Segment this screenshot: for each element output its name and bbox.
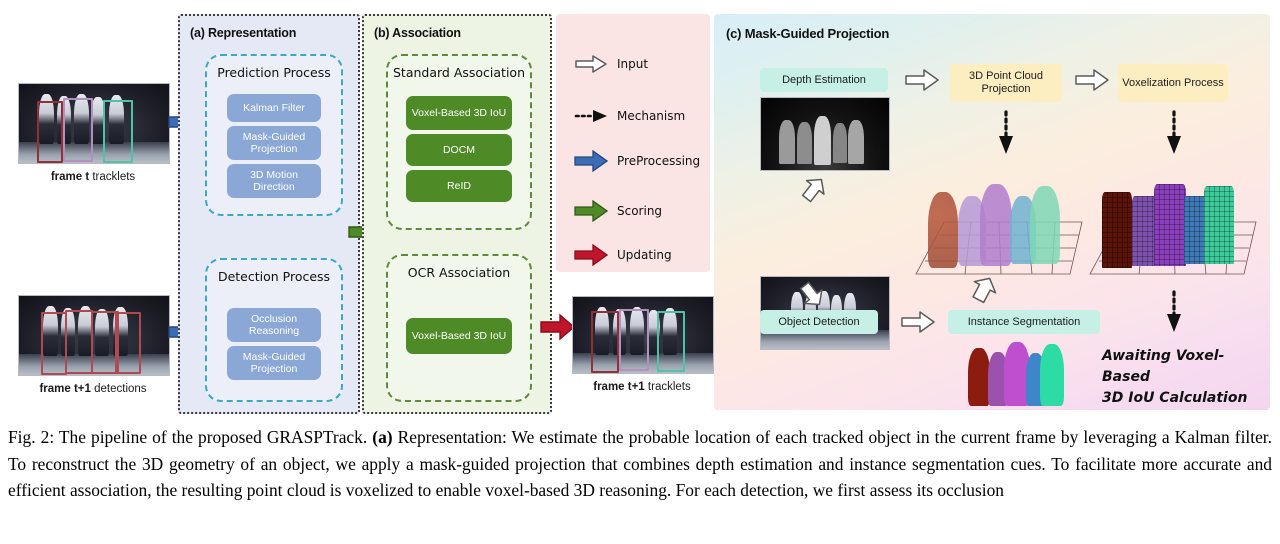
- frame-t-label: frame t tracklets: [18, 171, 168, 183]
- pointcloud-person-3: [980, 184, 1012, 266]
- instance-segmentation-silhouettes: [966, 340, 1086, 406]
- awaiting-result-line2: 3D IoU Calculation: [1102, 388, 1270, 409]
- frame-t-label-bold: frame t: [51, 171, 89, 183]
- pointcloud-person-5: [1030, 186, 1060, 264]
- awaiting-result-line1: Awaiting Voxel-Based: [1102, 346, 1270, 388]
- pill-voxel-based-3d-iou-ocr[interactable]: Voxel-Based 3D IoU: [406, 318, 512, 354]
- input-arrow-seg-to-pointcloud-icon: [970, 272, 998, 306]
- legend-label-scoring: Scoring: [617, 204, 662, 218]
- frame-t-label-rest: tracklets: [89, 171, 135, 183]
- voxel-person-3: [1154, 184, 1186, 266]
- pill-mask-guided-projection[interactable]: Mask-Guided Projection: [227, 126, 321, 160]
- legend-item-preprocessing: PreProcessing: [574, 150, 700, 172]
- standard-association-group: Standard Association Voxel-Based 3D IoU …: [386, 54, 532, 230]
- input-arrow-to-voxelization-icon: [1074, 68, 1110, 92]
- ocr-association-group: OCR Association Voxel-Based 3D IoU: [386, 254, 532, 402]
- pill-voxel-based-3d-iou[interactable]: Voxel-Based 3D IoU: [406, 96, 512, 130]
- frame-t-input-group: frame t tracklets: [18, 83, 168, 183]
- panel-b-association: (b) Association Standard Association Vox…: [362, 14, 552, 414]
- legend-item-scoring: Scoring: [574, 200, 662, 222]
- mechanism-arrow-pointcloud-icon: [996, 110, 1016, 156]
- legend-item-updating: Updating: [574, 244, 672, 266]
- bbox-purple: [63, 98, 93, 162]
- input-arrow-to-segmentation-icon: [900, 310, 936, 334]
- legend-label-updating: Updating: [617, 248, 672, 262]
- hollow-arrow-icon: [574, 54, 608, 74]
- bbox-teal: [103, 100, 133, 163]
- legend-label-preprocessing: PreProcessing: [617, 154, 700, 168]
- legend-item-mechanism: Mechanism: [574, 106, 685, 126]
- green-arrow-icon: [574, 200, 608, 222]
- pill-kalman-filter[interactable]: Kalman Filter: [227, 94, 321, 122]
- prediction-process-title: Prediction Process: [207, 65, 341, 80]
- caption-bold-a: (a): [372, 427, 392, 447]
- frame-t-image: [18, 83, 170, 164]
- blue-arrow-icon: [574, 150, 608, 172]
- pill-reid[interactable]: ReID: [406, 170, 512, 202]
- frame-t1-label-bold: frame t+1: [39, 383, 90, 395]
- input-arrow-to-pointcloud-icon: [904, 68, 940, 92]
- voxel-person-1: [1102, 192, 1132, 268]
- frame-t1-label: frame t+1 detections: [18, 383, 168, 395]
- tag-instance-segmentation[interactable]: Instance Segmentation: [948, 310, 1100, 334]
- panel-b-title: (b) Association: [374, 26, 461, 40]
- awaiting-result-note: Awaiting Voxel-Based 3D IoU Calculation: [1102, 346, 1270, 409]
- panel-a-representation: (a) Representation Prediction Process Ka…: [178, 14, 360, 414]
- dotted-arrow-icon: [574, 106, 608, 126]
- point-cloud-scene: [912, 160, 1102, 282]
- red-arrow-icon: [574, 244, 608, 266]
- pill-occlusion-reasoning[interactable]: Occlusion Reasoning: [227, 308, 321, 342]
- figure-canvas: frame t tracklets frame t+1 detections (…: [0, 0, 1280, 420]
- tag-depth-estimation[interactable]: Depth Estimation: [760, 68, 888, 92]
- frame-t1-input-group: frame t+1 detections: [18, 295, 168, 395]
- tag-voxelization-process[interactable]: Voxelization Process: [1118, 64, 1228, 102]
- detection-process-group: Detection Process Occlusion Reasoning Ma…: [205, 258, 343, 402]
- panel-c-title: (c) Mask-Guided Projection: [726, 26, 889, 41]
- mechanism-arrow-result-icon: [1164, 290, 1184, 334]
- output-frame-group: frame t+1 tracklets: [572, 296, 712, 393]
- pill-3d-motion-direction[interactable]: 3D Motion Direction: [227, 164, 321, 198]
- depth-estimation-image: [760, 97, 890, 171]
- frame-t1-image: [18, 295, 170, 376]
- tag-object-detection[interactable]: Object Detection: [760, 310, 878, 334]
- legend-label-mechanism: Mechanism: [617, 109, 685, 123]
- mechanism-arrow-voxelization-icon: [1164, 110, 1184, 156]
- voxelization-scene: [1086, 160, 1270, 282]
- figure-caption: Fig. 2: The pipeline of the proposed GRA…: [8, 424, 1272, 504]
- bbox-red: [37, 101, 63, 163]
- tag-3d-point-cloud-projection[interactable]: 3D Point Cloud Projection: [950, 64, 1062, 102]
- output-frame-image: [572, 296, 714, 374]
- output-frame-label: frame t+1 tracklets: [572, 381, 712, 393]
- input-arrow-to-depth-icon: [800, 174, 828, 204]
- legend-item-input: Input: [574, 54, 648, 74]
- input-arrow-to-detection-icon: [798, 280, 826, 310]
- output-frame-label-rest: tracklets: [645, 381, 691, 393]
- standard-association-title: Standard Association: [388, 65, 530, 80]
- output-frame-label-bold: frame t+1: [593, 381, 644, 393]
- legend-panel: Input Mechanism PreProcessing Scoring: [556, 14, 710, 272]
- panel-a-title: (a) Representation: [190, 26, 296, 40]
- legend-label-input: Input: [617, 57, 648, 71]
- frame-t1-label-rest: detections: [91, 383, 147, 395]
- pill-docm[interactable]: DOCM: [406, 134, 512, 166]
- panel-c-mask-guided-projection: (c) Mask-Guided Projection Depth Estimat…: [714, 14, 1270, 410]
- ocr-association-title: OCR Association: [388, 265, 530, 280]
- detection-process-title: Detection Process: [207, 269, 341, 284]
- pointcloud-person-1: [928, 192, 958, 268]
- voxel-person-5: [1204, 186, 1234, 264]
- prediction-process-group: Prediction Process Kalman Filter Mask-Gu…: [205, 54, 343, 216]
- pill-mask-guided-projection-2[interactable]: Mask-Guided Projection: [227, 346, 321, 380]
- updating-arrow-icon: [540, 313, 576, 341]
- caption-prefix: Fig. 2: The pipeline of the proposed GRA…: [8, 427, 372, 447]
